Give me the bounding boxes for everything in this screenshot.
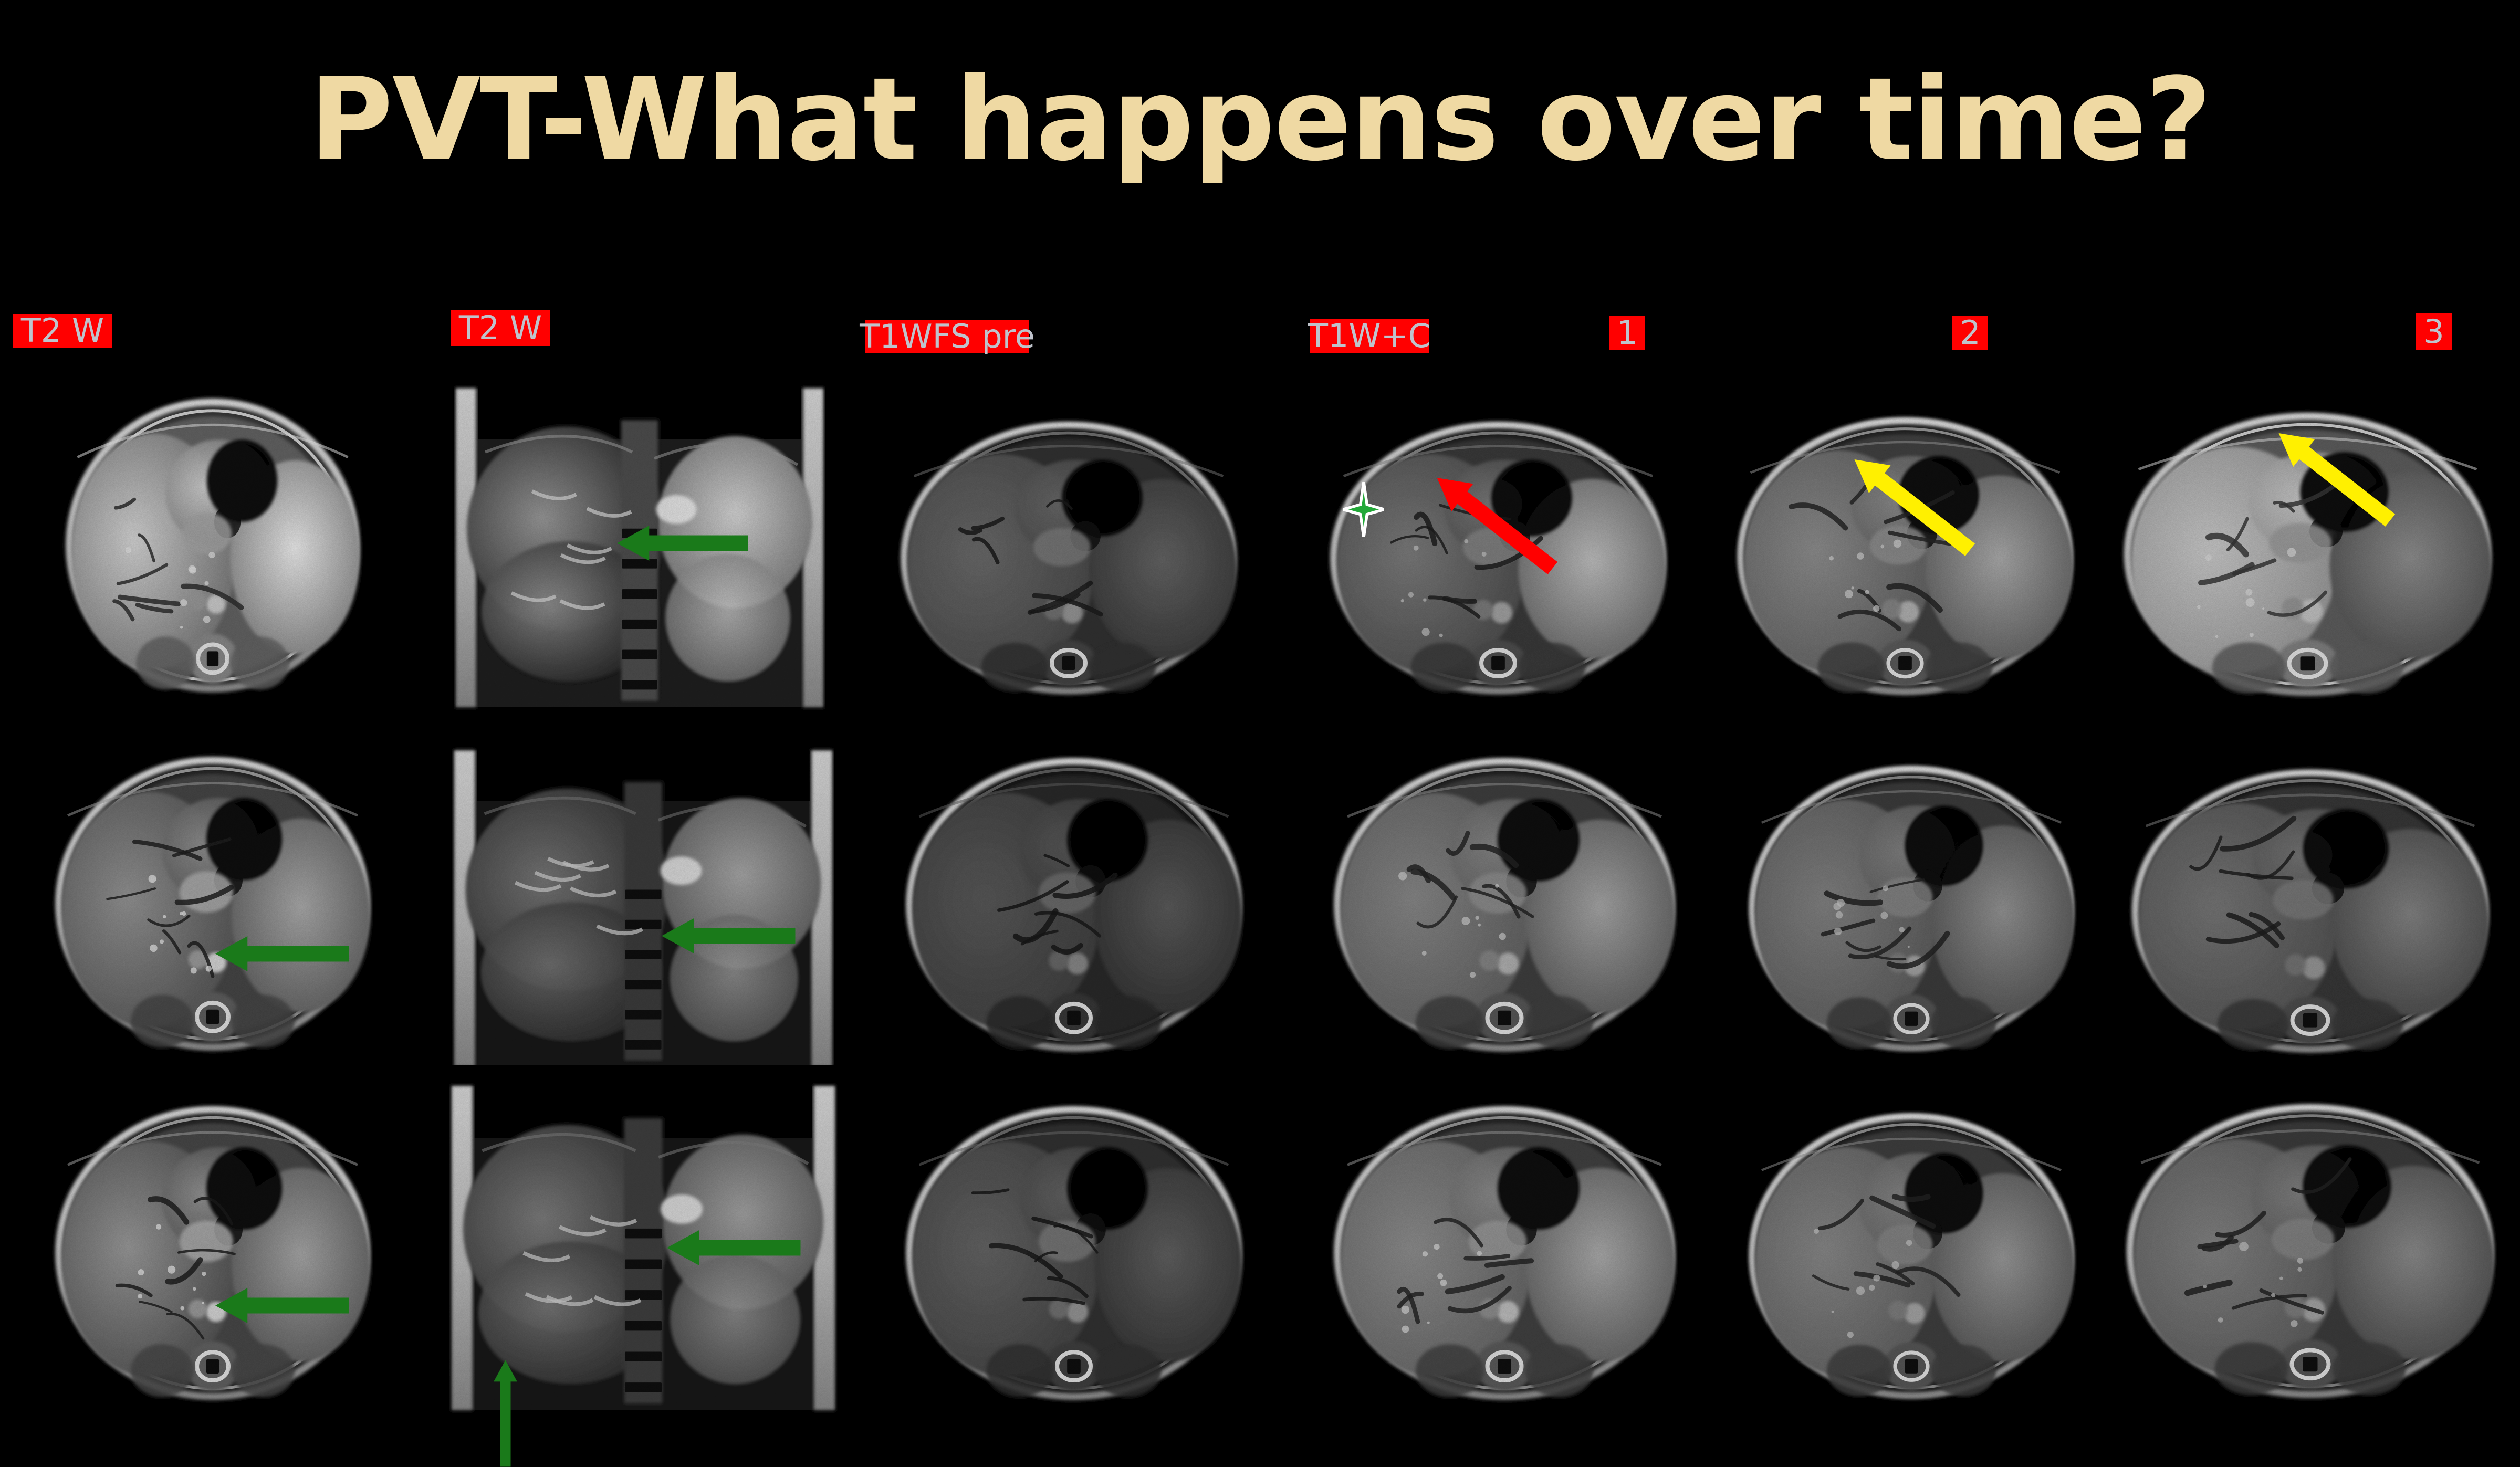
sequence-tag-phase-2: 2 (1952, 316, 1988, 350)
sequence-tag-label: 3 (2423, 316, 2444, 348)
sequence-tag-label: T1W+C (1308, 320, 1431, 352)
sequence-tag-t2w-coronal: T2 W (451, 310, 550, 346)
sequence-tag-label: T1WFS pre (860, 320, 1035, 353)
sequence-tag-label: T2 W (21, 315, 104, 347)
sequence-tag-label: 2 (1960, 317, 1980, 349)
sequence-label-layer: T2 WT2 WT1WFS preT1W+C123 (0, 0, 2520, 1417)
sequence-tag-t2w-axial: T2 W (13, 314, 112, 348)
sequence-tag-label: T2 W (459, 312, 542, 344)
sequence-tag-phase-1: 1 (1609, 316, 1645, 350)
sequence-tag-label: 1 (1617, 317, 1637, 349)
sequence-tag-t1wfs-pre: T1WFS pre (865, 320, 1029, 353)
sequence-tag-t1w-post: T1W+C (1310, 319, 1429, 353)
sequence-tag-phase-3: 3 (2416, 313, 2452, 350)
